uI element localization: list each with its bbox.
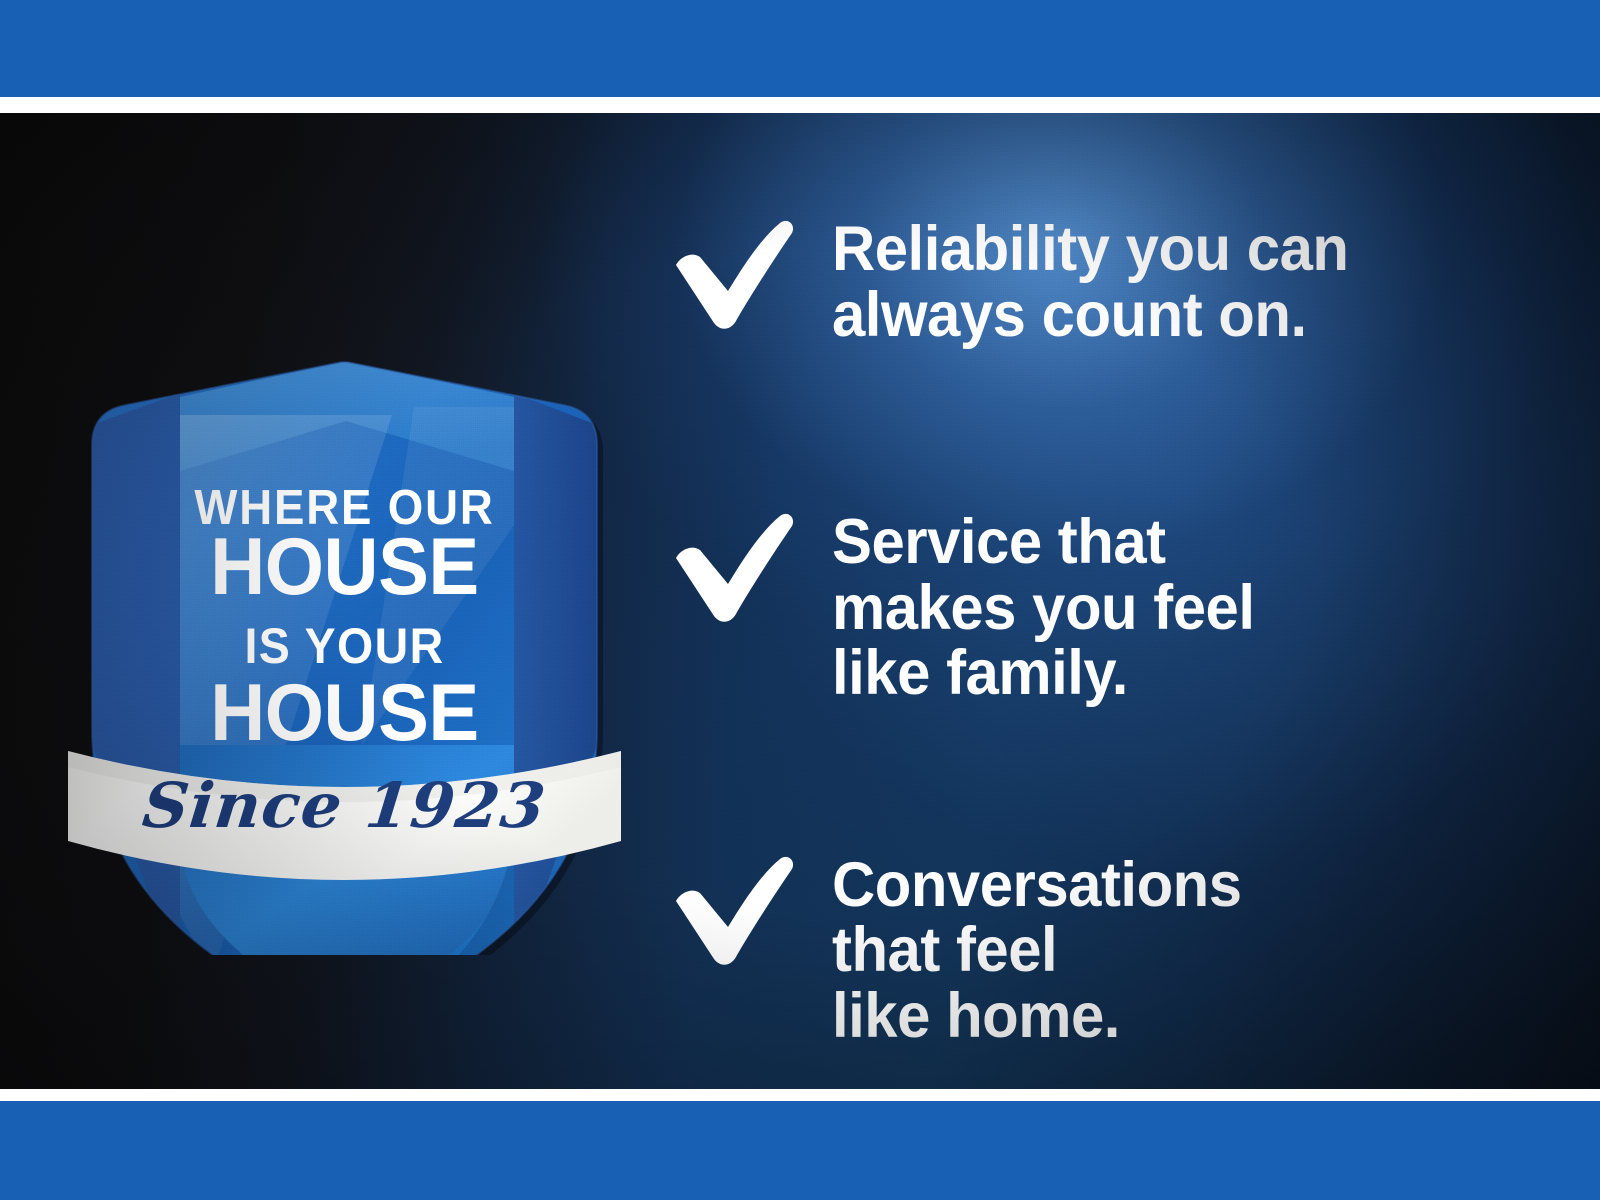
shield-badge: Where Our House Is Your House Since 1923	[62, 275, 627, 955]
bottom-accent-bar	[0, 1101, 1600, 1200]
checkmark-icon	[666, 853, 796, 969]
benefit-list: Reliability you can always count on. Ser…	[666, 213, 1566, 1067]
main-canvas: Where Our House Is Your House Since 1923…	[0, 113, 1600, 1089]
promo-graphic: Where Our House Is Your House Since 1923…	[0, 0, 1600, 1200]
checkmark-icon	[666, 217, 796, 333]
top-accent-bar	[0, 0, 1600, 97]
benefit-text-1: Reliability you can always count on.	[832, 217, 1529, 348]
checkmark-icon	[666, 510, 796, 626]
benefit-item-1: Reliability you can always count on.	[666, 217, 1566, 348]
top-divider-stripe	[0, 97, 1600, 113]
benefit-text-2: Service that makes you feel like family.	[832, 510, 1529, 707]
bottom-divider-stripe	[0, 1089, 1600, 1101]
benefit-item-3: Conversations that feel like home.	[666, 853, 1566, 1050]
benefit-item-2: Service that makes you feel like family.	[666, 510, 1566, 707]
benefit-text-3: Conversations that feel like home.	[832, 853, 1529, 1050]
shield-graphic	[62, 275, 627, 955]
